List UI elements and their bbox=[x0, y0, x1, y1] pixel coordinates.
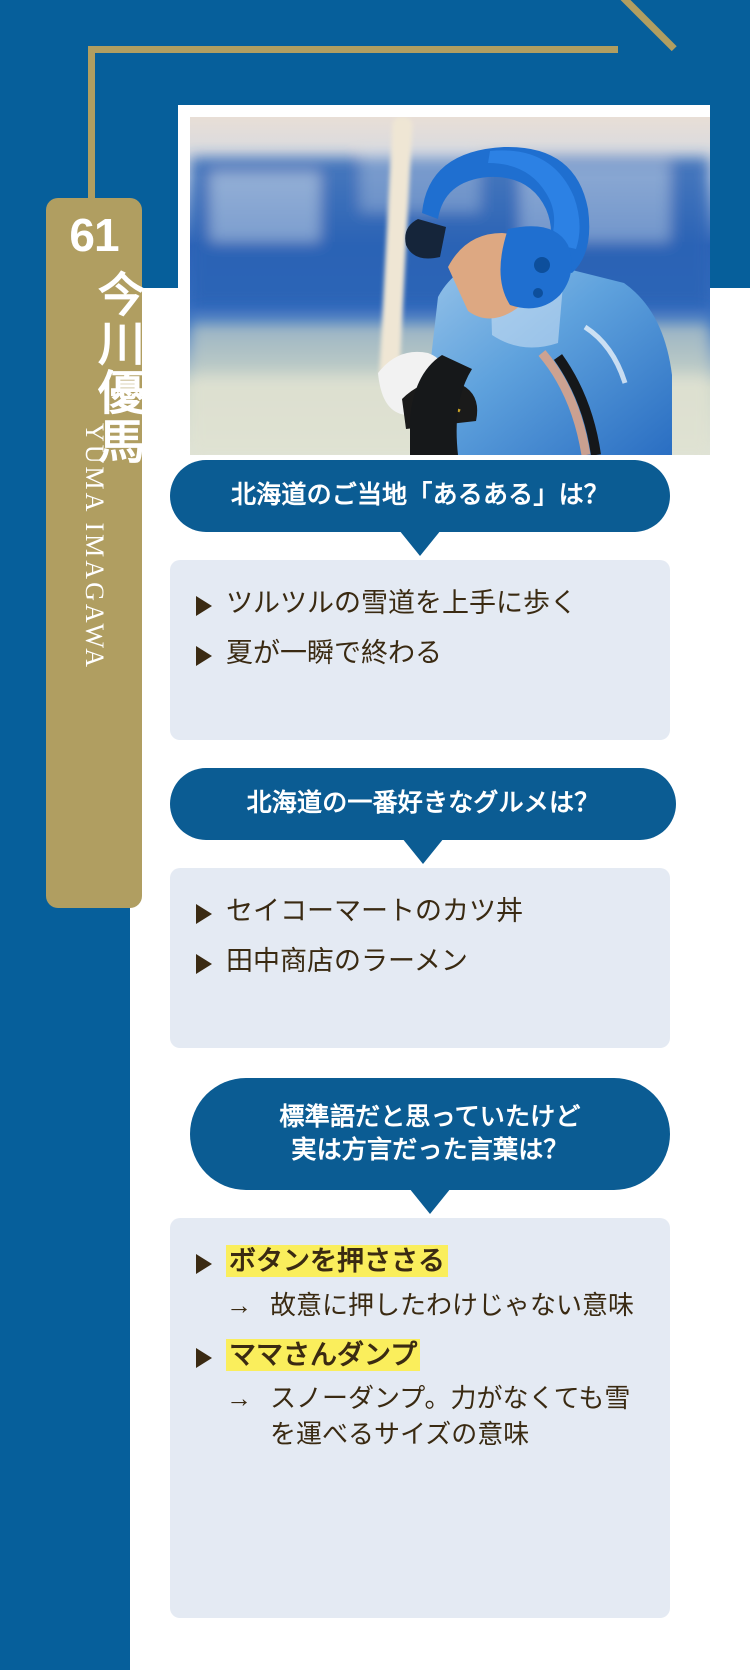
arrow-icon: → bbox=[226, 1381, 270, 1417]
bubble-tail-icon bbox=[409, 1188, 451, 1214]
jersey-number: 61 bbox=[46, 212, 142, 258]
answer-text: ツルツルの雪道を上手に歩く bbox=[226, 588, 577, 618]
answer-text: ボタンを押ささる bbox=[226, 1245, 448, 1277]
triangle-bullet-icon bbox=[196, 596, 212, 616]
answer-item: 夏が一瞬で終わる bbox=[194, 636, 646, 672]
triangle-bullet-icon bbox=[196, 646, 212, 666]
triangle-bullet-icon bbox=[196, 1348, 212, 1368]
answer-text-wrap: 田中商店のラーメン bbox=[226, 944, 468, 980]
question-bubble-1: 北海道のご当地「あるある」は？ bbox=[170, 460, 670, 532]
answer-text-wrap: ツルツルの雪道を上手に歩く bbox=[226, 586, 577, 622]
gold-rule-diagonal bbox=[601, 0, 677, 51]
question-text: 北海道の一番好きなグルメは？ bbox=[247, 787, 600, 821]
question-text: 北海道のご当地「あるある」は？ bbox=[231, 479, 609, 513]
triangle-bullet-icon bbox=[196, 904, 212, 924]
bubble-tail-icon bbox=[399, 530, 441, 556]
answer-text: 夏が一瞬で終わる bbox=[226, 638, 442, 668]
answer-text-wrap: ボタンを押ささる→故意に押したわけじゃない意味 bbox=[226, 1244, 634, 1324]
bubble-tail-icon bbox=[402, 838, 444, 864]
player-name-panel: 61 今川優馬 YUMA IMAGAWA bbox=[46, 198, 142, 908]
answer-note: →故意に押したわけじゃない意味 bbox=[226, 1288, 634, 1324]
player-photo bbox=[190, 117, 710, 455]
question-text: 標準語だと思っていたけど実は方言だった言葉は？ bbox=[279, 1101, 580, 1168]
answer-text-wrap: ママさんダンプ→スノーダンプ。力がなくても雪を運べるサイズの意味 bbox=[226, 1338, 646, 1453]
answer-item: ボタンを押ささる→故意に押したわけじゃない意味 bbox=[194, 1244, 646, 1324]
triangle-bullet-icon bbox=[196, 954, 212, 974]
answer-text: セイコーマートのカツ丼 bbox=[226, 896, 523, 926]
answer-box-1: ツルツルの雪道を上手に歩く夏が一瞬で終わる bbox=[170, 560, 670, 740]
answer-box-3: ボタンを押ささる→故意に押したわけじゃない意味ママさんダンプ→スノーダンプ。力が… bbox=[170, 1218, 670, 1618]
answer-box-2: セイコーマートのカツ丼田中商店のラーメン bbox=[170, 868, 670, 1048]
triangle-bullet-icon bbox=[196, 1254, 212, 1274]
answer-text-wrap: 夏が一瞬で終わる bbox=[226, 636, 442, 672]
answer-note: →スノーダンプ。力がなくても雪を運べるサイズの意味 bbox=[226, 1381, 646, 1453]
arrow-icon: → bbox=[226, 1288, 270, 1324]
answer-text: ママさんダンプ bbox=[226, 1339, 420, 1371]
answer-text: 田中商店のラーメン bbox=[226, 946, 468, 976]
answer-item: セイコーマートのカツ丼 bbox=[194, 894, 646, 930]
answer-item: ママさんダンプ→スノーダンプ。力がなくても雪を運べるサイズの意味 bbox=[194, 1338, 646, 1453]
player-name-romaji: YUMA IMAGAWA bbox=[79, 423, 109, 663]
answer-item: ツルツルの雪道を上手に歩く bbox=[194, 586, 646, 622]
question-bubble-3: 標準語だと思っていたけど実は方言だった言葉は？ bbox=[190, 1078, 670, 1190]
answer-item: 田中商店のラーメン bbox=[194, 944, 646, 980]
answer-text-wrap: セイコーマートのカツ丼 bbox=[226, 894, 523, 930]
question-bubble-2: 北海道の一番好きなグルメは？ bbox=[170, 768, 676, 840]
gold-rule-horizontal bbox=[88, 46, 618, 53]
